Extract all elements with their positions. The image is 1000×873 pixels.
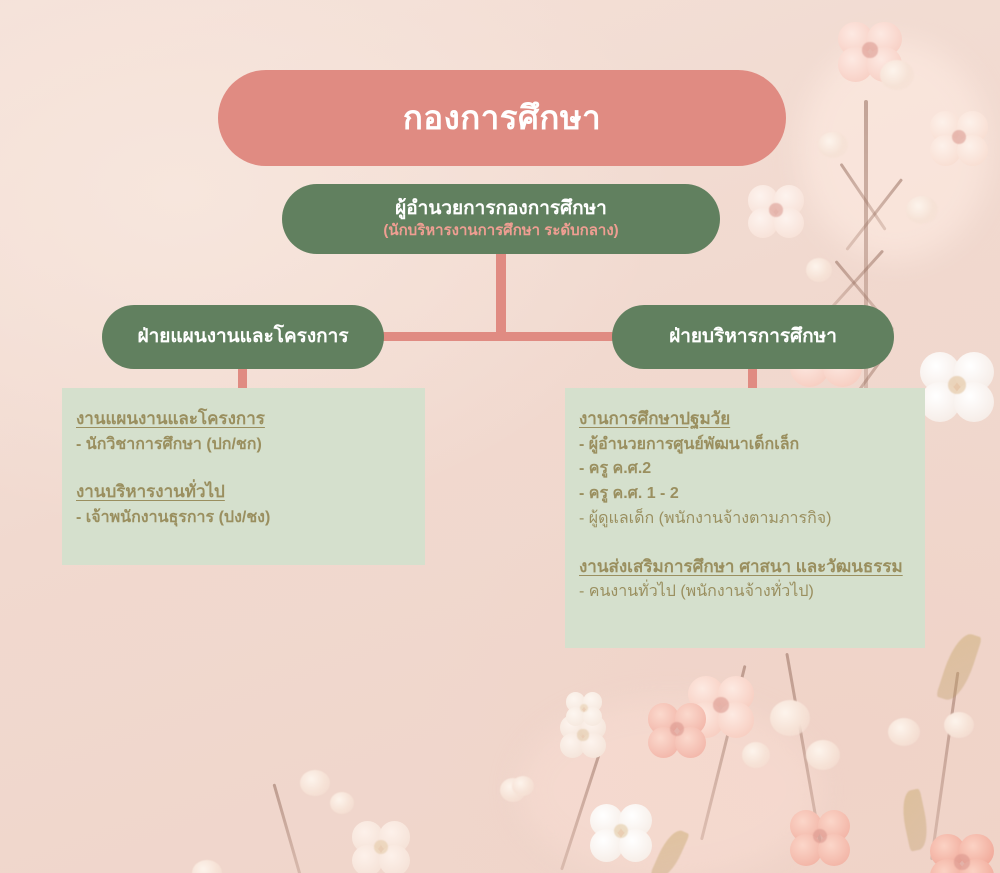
chart-content: กองการศึกษา ผู้อำนวยการกองการศึกษา (นักบ…	[0, 0, 1000, 873]
department-label: ฝ่ายบริหารการศึกษา	[669, 326, 837, 349]
detail-panel-left: งานแผนงานและโครงการ- นักวิชาการศึกษา (ปก…	[62, 388, 425, 565]
detail-group: งานบริหารงานทั่วไป- เจ้าพนักงานธุรการ (ป…	[76, 479, 411, 530]
detail-panel-right: งานการศึกษาปฐมวัย- ผู้อำนวยการศูนย์พัฒนา…	[565, 388, 925, 648]
detail-group-title: งานบริหารงานทั่วไป	[76, 479, 411, 505]
detail-group-item: - เจ้าพนักงานธุรการ (ปง/ชง)	[76, 506, 411, 531]
detail-group-item: - ผู้อำนวยการศูนย์พัฒนาเด็กเล็ก	[579, 433, 911, 458]
detail-group-title: งานแผนงานและโครงการ	[76, 406, 411, 432]
detail-group-title: งานการศึกษาปฐมวัย	[579, 406, 911, 432]
director-subtitle: (นักบริหารงานการศึกษา ระดับกลาง)	[383, 222, 618, 241]
organization-chart-page: กองการศึกษา ผู้อำนวยการกองการศึกษา (นักบ…	[0, 0, 1000, 873]
detail-group-item: - ครู ค.ศ. 1 - 2	[579, 482, 911, 507]
page-title: กองการศึกษา	[403, 100, 601, 136]
root-header-box: กองการศึกษา	[218, 70, 786, 166]
detail-group-title: งานส่งเสริมการศึกษา ศาสนา และวัฒนธรรม	[579, 554, 911, 580]
director-box: ผู้อำนวยการกองการศึกษา (นักบริหารงานการศ…	[282, 184, 720, 254]
department-box-planning: ฝ่ายแผนงานและโครงการ	[102, 305, 384, 369]
detail-group: งานการศึกษาปฐมวัย- ผู้อำนวยการศูนย์พัฒนา…	[579, 406, 911, 532]
detail-group-item: - ครู ค.ศ.2	[579, 457, 911, 482]
detail-group: งานส่งเสริมการศึกษา ศาสนา และวัฒนธรรม- ค…	[579, 554, 911, 605]
department-label: ฝ่ายแผนงานและโครงการ	[137, 326, 348, 349]
detail-group-item: - คนงานทั่วไป (พนักงานจ้างทั่วไป)	[579, 580, 911, 605]
connector-director-trunk	[496, 254, 506, 337]
director-title: ผู้อำนวยการกองการศึกษา	[395, 197, 607, 221]
detail-group-item: - ผู้ดูแลเด็ก (พนักงานจ้างตามภารกิจ)	[579, 507, 911, 532]
department-box-administration: ฝ่ายบริหารการศึกษา	[612, 305, 894, 369]
detail-group: งานแผนงานและโครงการ- นักวิชาการศึกษา (ปก…	[76, 406, 411, 457]
detail-group-item: - นักวิชาการศึกษา (ปก/ชก)	[76, 433, 411, 458]
